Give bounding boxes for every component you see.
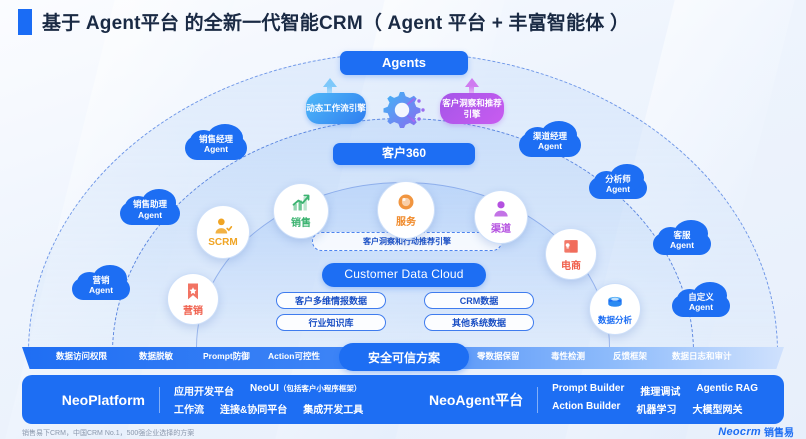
data-source-pill-3[interactable]: 其他系统数据 bbox=[424, 314, 534, 331]
customer360-pill[interactable]: 客户360 bbox=[333, 143, 475, 165]
platform-segment-NeoAgent平台: NeoAgent平台Prompt Builder推理调试Agentic RAGA… bbox=[403, 383, 784, 416]
platform-feature-item[interactable]: Prompt Builder bbox=[552, 383, 624, 398]
headset-ring-icon bbox=[396, 192, 416, 212]
platform-divider bbox=[159, 387, 160, 413]
platform-feature-item[interactable]: 大模型网关 bbox=[692, 401, 742, 416]
title-accent-bar bbox=[18, 9, 32, 35]
person-purple-icon bbox=[491, 199, 511, 219]
platform-feature-item[interactable]: NeoUI（包括客户小程序框架） bbox=[250, 383, 361, 398]
security-item-数据访问权限: 数据访问权限 bbox=[56, 350, 107, 362]
shop-door-icon bbox=[561, 236, 581, 256]
security-item-Action可控性: Action可控性 bbox=[268, 350, 320, 362]
platform-feature-row: Prompt Builder推理调试Agentic RAG bbox=[552, 383, 758, 398]
platform-feature-item[interactable]: 连接&协同平台 bbox=[220, 401, 287, 416]
capability-bubble-销售[interactable]: 销售 bbox=[273, 183, 329, 239]
brand-logo: Neocrm 销售易 bbox=[718, 424, 794, 439]
capability-label: 销售 bbox=[291, 214, 311, 229]
capability-bubble-数据分析[interactable]: 数据分析 bbox=[589, 283, 641, 335]
platform-feature-item[interactable]: 机器学习 bbox=[636, 401, 676, 416]
agent-cloud-销售经理[interactable]: 销售经理Agent bbox=[185, 122, 247, 160]
person-tag-icon bbox=[213, 216, 233, 236]
agent-cloud-label: 销售经理Agent bbox=[199, 134, 233, 154]
customer-data-cloud-pill[interactable]: Customer Data Cloud bbox=[322, 263, 486, 287]
ai-gear-chip-icon bbox=[378, 88, 430, 132]
agents-pill[interactable]: Agents bbox=[340, 51, 468, 75]
capability-label: 营销 bbox=[183, 302, 203, 317]
platform-name: NeoAgent平台 bbox=[429, 390, 523, 410]
data-source-pill-0[interactable]: 客户多维情报数据 bbox=[276, 292, 386, 309]
platform-feature-item[interactable]: 工作流 bbox=[174, 401, 204, 416]
capability-bubble-渠道[interactable]: 渠道 bbox=[474, 190, 528, 244]
platform-feature-grid: 应用开发平台NeoUI（包括客户小程序框架）工作流连接&协同平台集成开发工具 bbox=[174, 383, 363, 416]
agent-cloud-label: 营销Agent bbox=[89, 275, 113, 295]
capability-bubble-SCRM[interactable]: SCRM bbox=[196, 205, 250, 259]
logo-cn-text: 销售易 bbox=[764, 424, 794, 439]
agent-cloud-渠道经理[interactable]: 渠道经理Agent bbox=[519, 119, 581, 157]
database-disk-icon bbox=[605, 293, 625, 313]
platform-feature-row: Action Builder机器学习大模型网关 bbox=[552, 401, 758, 416]
agent-cloud-label: 分析师Agent bbox=[605, 174, 631, 194]
capability-label: 服务 bbox=[396, 213, 416, 228]
capability-label: SCRM bbox=[208, 237, 237, 248]
capability-bubble-营销[interactable]: 营销 bbox=[167, 273, 219, 325]
platform-feature-row: 工作流连接&协同平台集成开发工具 bbox=[174, 401, 363, 416]
agent-cloud-分析师[interactable]: 分析师Agent bbox=[589, 163, 647, 199]
customer-insight-engine-chip[interactable]: 客户洞察和推荐引擎 bbox=[440, 93, 504, 124]
title-text: 基于 Agent平台 的全新一代智能CRM（ Agent 平台 + 丰富智能体 … bbox=[42, 8, 629, 35]
capability-label: 电商 bbox=[561, 257, 581, 272]
page-title: 基于 Agent平台 的全新一代智能CRM（ Agent 平台 + 丰富智能体 … bbox=[18, 8, 629, 35]
platform-feature-grid: Prompt Builder推理调试Agentic RAGAction Buil… bbox=[552, 383, 758, 416]
security-item-数据脱敏: 数据脱敏 bbox=[139, 350, 173, 362]
data-source-pill-2[interactable]: 行业知识库 bbox=[276, 314, 386, 331]
capability-bubble-电商[interactable]: 电商 bbox=[545, 228, 597, 280]
platform-feature-item[interactable]: 推理调试 bbox=[640, 383, 680, 398]
dynamic-workflow-engine-chip[interactable]: 动态工作流引擎 bbox=[306, 93, 366, 124]
platform-feature-row: 应用开发平台NeoUI（包括客户小程序框架） bbox=[174, 383, 363, 398]
capability-bubble-服务[interactable]: 服务 bbox=[377, 181, 435, 239]
agent-cloud-label: 客服Agent bbox=[670, 230, 694, 250]
capability-label: 渠道 bbox=[491, 220, 511, 235]
platform-bar: NeoPlatform应用开发平台NeoUI（包括客户小程序框架）工作流连接&协… bbox=[22, 375, 784, 424]
security-item-数据日志和审计: 数据日志和审计 bbox=[672, 350, 732, 362]
agent-cloud-营销[interactable]: 营销Agent bbox=[72, 264, 130, 300]
capability-label: 数据分析 bbox=[598, 314, 632, 326]
agent-cloud-销售助理[interactable]: 销售助理Agent bbox=[120, 188, 180, 225]
agent-cloud-label: 自定义Agent bbox=[688, 292, 714, 312]
security-center-pill[interactable]: 安全可信方案 bbox=[339, 343, 469, 371]
platform-divider bbox=[537, 387, 538, 413]
agent-cloud-label: 渠道经理Agent bbox=[533, 131, 567, 151]
data-source-pill-1[interactable]: CRM数据 bbox=[424, 292, 534, 309]
platform-feature-item[interactable]: 应用开发平台 bbox=[174, 383, 234, 398]
footnote-text: 销售易下CRM，中国CRM No.1，500强企业选择的方案 bbox=[22, 428, 194, 438]
logo-en-text: Neocrm bbox=[718, 426, 761, 438]
agent-cloud-客服[interactable]: 客服Agent bbox=[653, 219, 711, 255]
platform-feature-item[interactable]: Action Builder bbox=[552, 401, 620, 416]
platform-feature-item[interactable]: 集成开发工具 bbox=[303, 401, 363, 416]
platform-segment-NeoPlatform: NeoPlatform应用开发平台NeoUI（包括客户小程序框架）工作流连接&协… bbox=[22, 383, 403, 416]
security-item-Prompt防御: Prompt防御 bbox=[203, 350, 250, 362]
platform-feature-item[interactable]: Agentic RAG bbox=[696, 383, 758, 398]
agent-cloud-自定义[interactable]: 自定义Agent bbox=[672, 281, 730, 317]
growth-chart-icon bbox=[291, 193, 311, 213]
security-item-毒性检测: 毒性检测 bbox=[551, 350, 585, 362]
security-item-零数据保留: 零数据保留 bbox=[477, 350, 520, 362]
agent-cloud-label: 销售助理Agent bbox=[133, 199, 167, 219]
security-item-反馈框架: 反馈框架 bbox=[613, 350, 647, 362]
platform-name: NeoPlatform bbox=[62, 392, 145, 408]
bookmark-star-icon bbox=[183, 281, 203, 301]
